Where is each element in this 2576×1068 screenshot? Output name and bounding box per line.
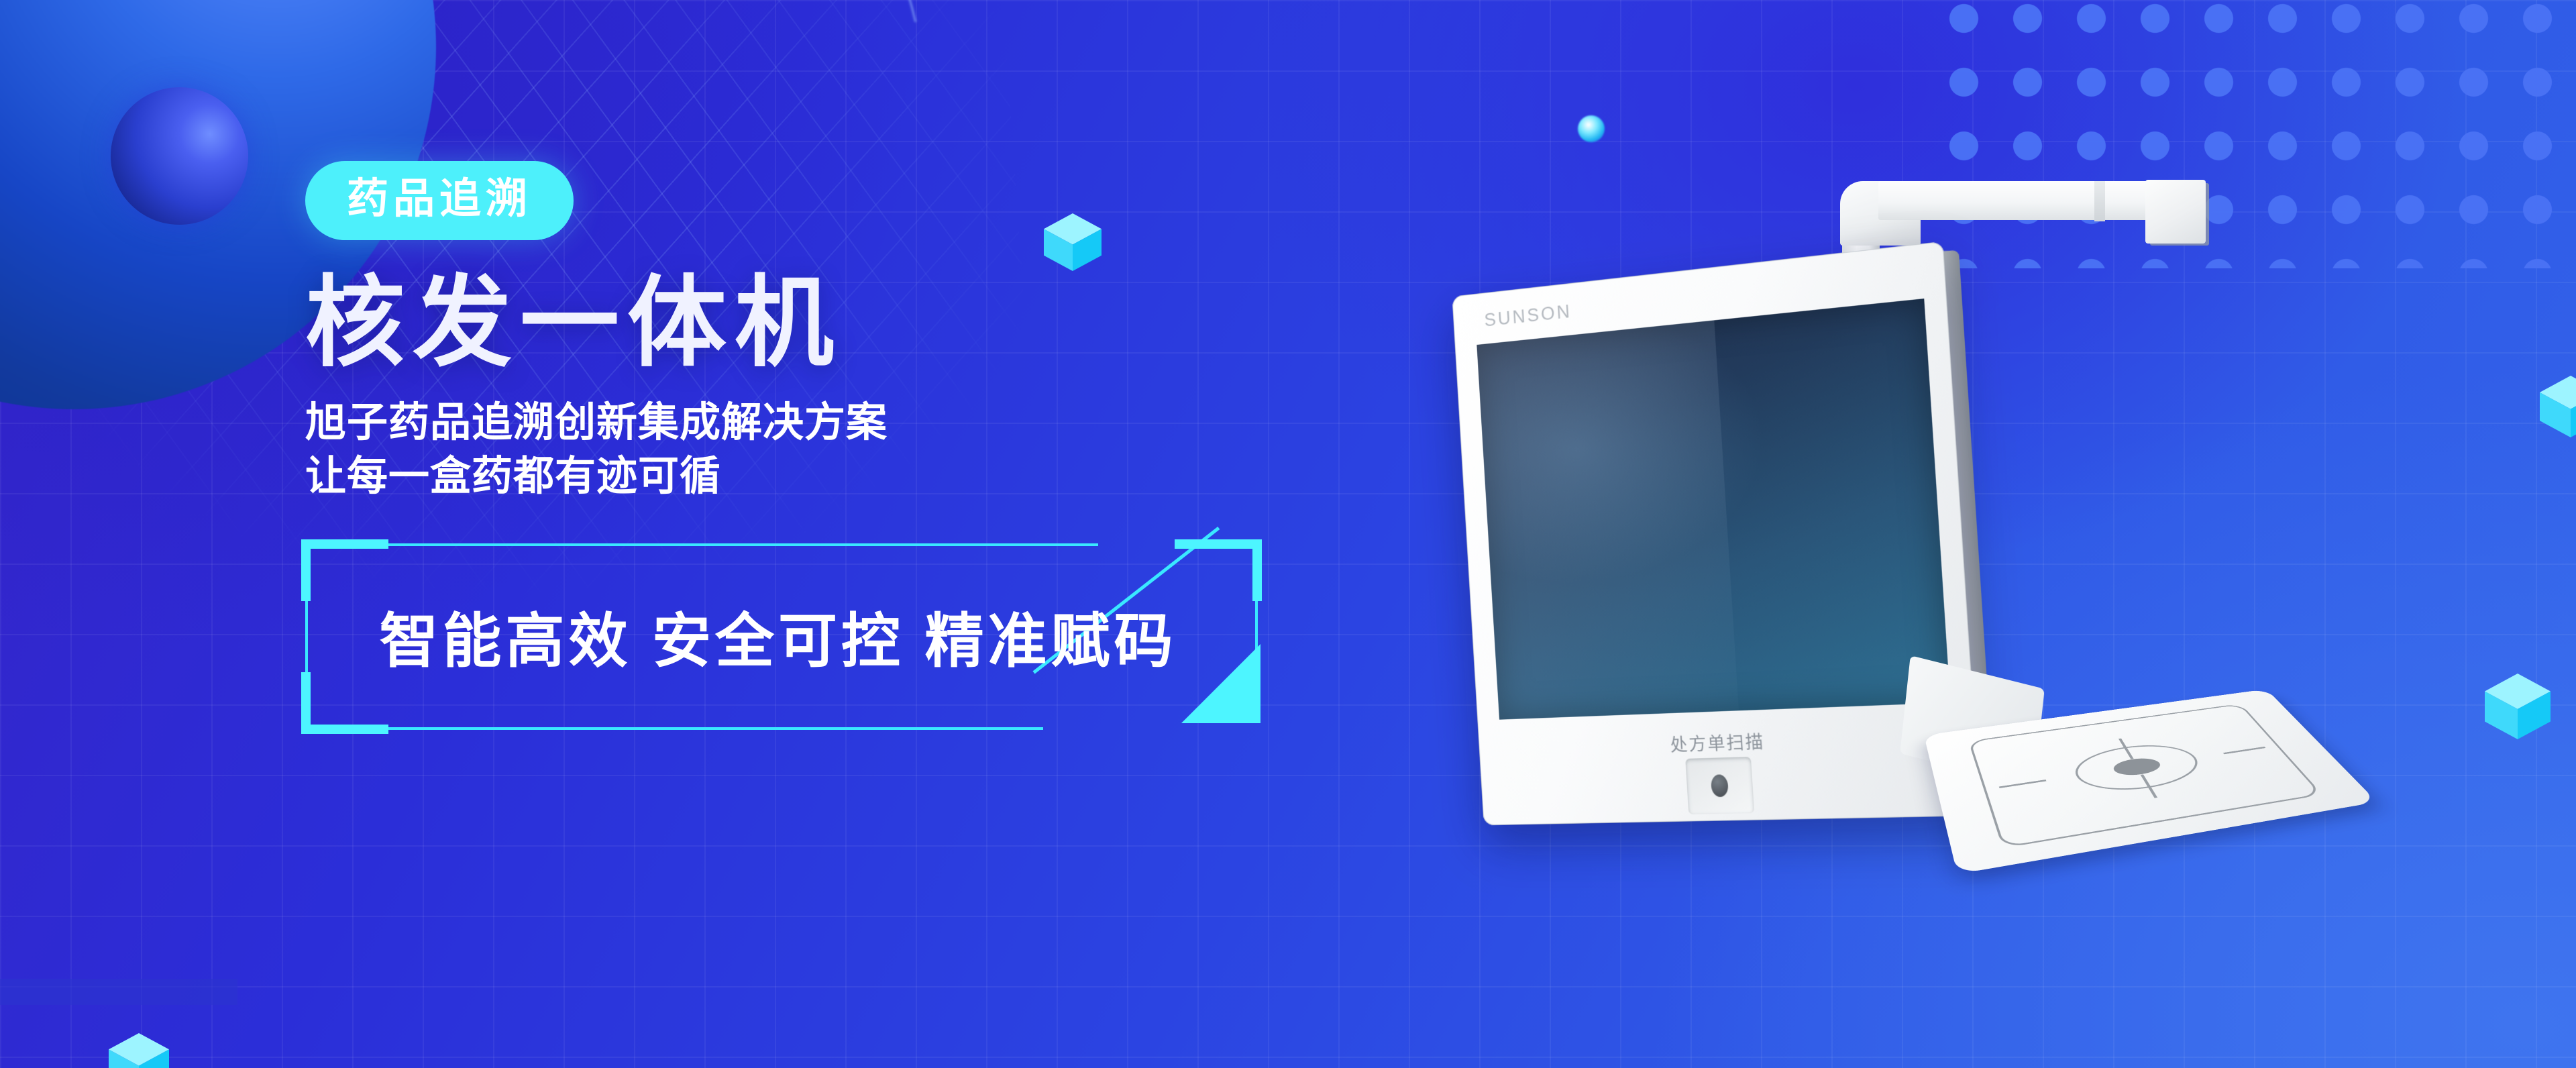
- category-badge-label: 药品追溯: [347, 176, 532, 222]
- glow-dot-upper-icon: [1578, 115, 1605, 142]
- camera-head: [2145, 180, 2206, 244]
- accent-bar: [0, 979, 237, 1005]
- camera-arm-boom: [1878, 181, 2180, 220]
- category-badge: 药品追溯: [305, 161, 574, 240]
- cube-bottom-left-icon: [109, 1033, 169, 1068]
- tagline-text: 智能高效 安全可控 精准赋码: [305, 543, 1258, 730]
- tagline-frame: 智能高效 安全可控 精准赋码: [305, 543, 1258, 730]
- device-illustration: SUNSON 处方单扫描: [1462, 161, 2308, 919]
- banner-content: 药品追溯 核发一体机 旭子药品追溯创新集成解决方案 让每一盒药都有迹可循 智能高…: [305, 161, 1311, 730]
- page-title: 核发一体机: [305, 271, 1311, 376]
- scanner-window: [1685, 757, 1754, 814]
- subtitle-block: 旭子药品追溯创新集成解决方案 让每一盒药都有迹可循: [305, 395, 1311, 503]
- cube-right-upper-icon: [2540, 376, 2576, 437]
- camera-arm-joint: [2094, 181, 2105, 221]
- scanner-lens-icon: [1711, 774, 1729, 797]
- cube-right-lower-icon: [2485, 674, 2551, 739]
- monitor-screen: [1477, 299, 1950, 720]
- promo-banner: 药品追溯 核发一体机 旭子药品追溯创新集成解决方案 让每一盒药都有迹可循 智能高…: [0, 0, 2576, 1068]
- subtitle-line-2: 让每一盒药都有迹可循: [305, 449, 1311, 503]
- accent-sphere-icon: [111, 87, 248, 225]
- subtitle-line-1: 旭子药品追溯创新集成解决方案: [305, 395, 1311, 449]
- brand-logo: SUNSON: [1484, 301, 1572, 331]
